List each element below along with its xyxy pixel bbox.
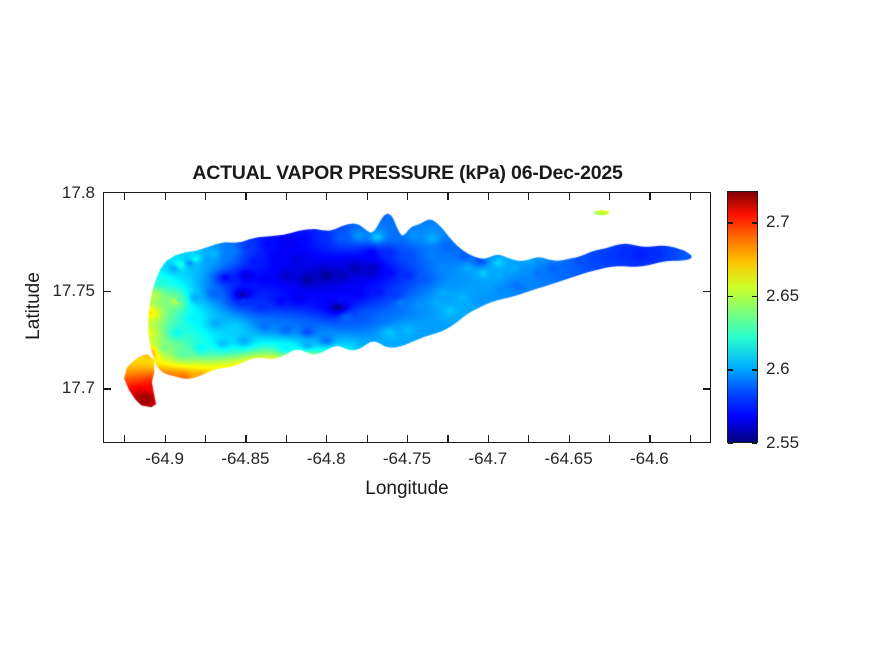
y-axis-label: Latitude [23, 226, 45, 386]
y-tick-mark [703, 388, 710, 389]
colorbar-tick-mark [728, 222, 733, 223]
x-tick-mark [609, 193, 610, 200]
x-tick-mark [245, 435, 246, 442]
x-tick-label: -64.75 [383, 449, 431, 469]
x-tick-mark [165, 435, 166, 442]
colorbar-tick-label: 2.7 [766, 212, 790, 232]
x-tick-mark [205, 193, 206, 200]
y-tick-label: 17.75 [0, 281, 95, 301]
colorbar-tick-label: 2.6 [766, 359, 790, 379]
x-tick-mark [488, 435, 489, 442]
map-axes [103, 192, 711, 443]
x-tick-mark [124, 435, 125, 442]
x-tick-mark [690, 435, 691, 442]
x-tick-mark [528, 193, 529, 200]
x-tick-mark [245, 193, 246, 200]
vapor-pressure-heatmap [104, 193, 710, 442]
page-title: ACTUAL VAPOR PRESSURE (kPa) 06-Dec-2025 [103, 162, 712, 185]
x-tick-mark [528, 435, 529, 442]
x-tick-label: -64.6 [630, 449, 669, 469]
colorbar-tick-mark [728, 296, 733, 297]
colorbar-tick-label: 2.55 [766, 433, 799, 453]
y-tick-mark [703, 291, 710, 292]
x-tick-mark [286, 193, 287, 200]
x-tick-mark [407, 435, 408, 442]
x-tick-mark [407, 193, 408, 200]
x-tick-mark [124, 193, 125, 200]
y-tick-label: 17.7 [0, 378, 95, 398]
colorbar-tick-mark [728, 369, 733, 370]
x-tick-mark [488, 193, 489, 200]
y-tick-label: 17.8 [0, 183, 95, 203]
colorbar-tick-mark [728, 443, 733, 444]
x-axis-label: Longitude [103, 478, 711, 500]
x-tick-mark [609, 435, 610, 442]
x-tick-mark [326, 193, 327, 200]
x-tick-label: -64.8 [307, 449, 346, 469]
x-tick-mark [649, 193, 650, 200]
x-tick-label: -64.9 [145, 449, 184, 469]
x-tick-mark [447, 435, 448, 442]
x-tick-mark [286, 435, 287, 442]
x-tick-mark [690, 193, 691, 200]
y-tick-mark [104, 291, 111, 292]
x-tick-label: -64.7 [468, 449, 507, 469]
colorbar-tick-label: 2.65 [766, 286, 799, 306]
x-tick-mark [649, 435, 650, 442]
x-tick-mark [205, 435, 206, 442]
colorbar-tick-mark [752, 369, 757, 370]
colorbar-tick-mark [752, 222, 757, 223]
colorbar [727, 191, 758, 443]
x-tick-mark [569, 193, 570, 200]
x-tick-mark [447, 193, 448, 200]
y-tick-mark [104, 388, 111, 389]
x-tick-label: -64.65 [544, 449, 592, 469]
x-tick-mark [367, 193, 368, 200]
x-tick-mark [165, 193, 166, 200]
colorbar-tick-mark [752, 296, 757, 297]
x-tick-label: -64.85 [221, 449, 269, 469]
x-tick-mark [569, 435, 570, 442]
colorbar-tick-mark [752, 443, 757, 444]
x-tick-mark [326, 435, 327, 442]
x-tick-mark [367, 435, 368, 442]
figure-canvas: ACTUAL VAPOR PRESSURE (kPa) 06-Dec-2025 … [0, 0, 875, 656]
